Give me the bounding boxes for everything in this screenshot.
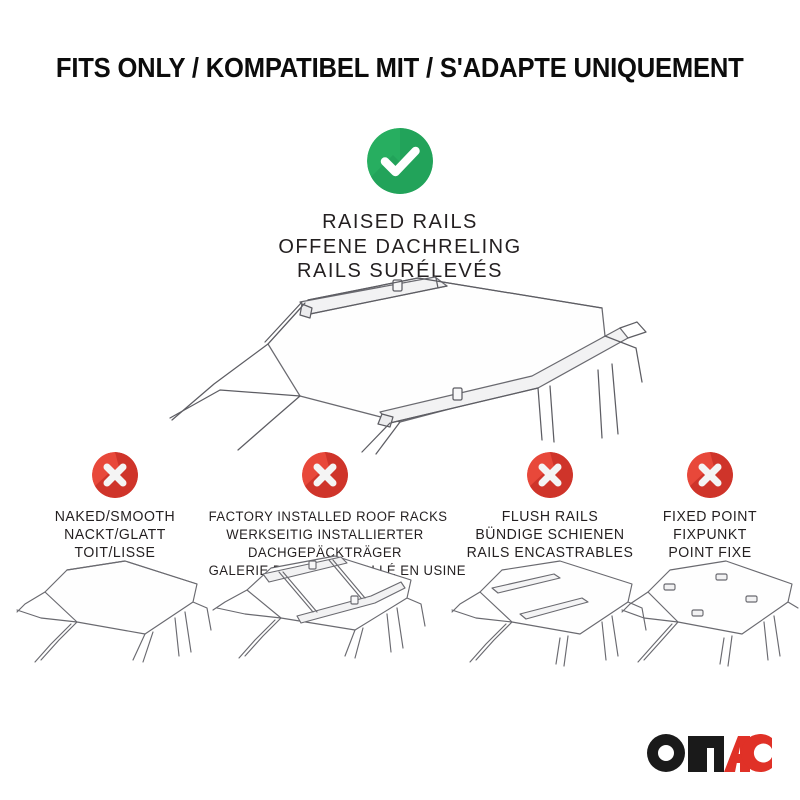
label-line-de: FIXPUNKT — [637, 526, 783, 544]
label-line-en: FACTORY INSTALLED ROOF RACKS — [209, 508, 442, 526]
incompatible-item-fixed-point: FIXED POINT FIXPUNKT POINT FIXE — [635, 452, 785, 562]
x-circle-icon — [687, 452, 733, 498]
incompatible-item-flush-rails: FLUSH RAILS BÜNDIGE SCHIENEN RAILS ENCAS… — [450, 452, 650, 562]
label-line-de: NACKT/GLATT — [18, 526, 212, 544]
incompatible-labels: FIXED POINT FIXPUNKT POINT FIXE — [635, 508, 785, 562]
incompatible-labels: FLUSH RAILS BÜNDIGE SCHIENEN RAILS ENCAS… — [450, 508, 650, 562]
car-roof-naked-smooth-illustration — [15, 556, 215, 691]
car-roof-fixed-point-illustration — [620, 556, 800, 691]
compatible-label-en: RAISED RAILS — [0, 210, 800, 235]
logo-letter-o — [647, 734, 685, 772]
page-title: FITS ONLY / KOMPATIBEL MIT / S'ADAPTE UN… — [0, 52, 800, 84]
incompatible-item-factory-racks: FACTORY INSTALLED ROOF RACKS WERKSEITIG … — [205, 452, 445, 580]
page-title-text: FITS ONLY / KOMPATIBEL MIT / S'ADAPTE UN… — [56, 52, 744, 84]
compatible-label-de: OFFENE DACHRELING — [0, 235, 800, 260]
label-line-en: NAKED/SMOOTH — [18, 508, 212, 526]
car-roof-factory-racks-illustration — [205, 552, 445, 692]
compatible-section: RAISED RAILS OFFENE DACHRELING RAILS SUR… — [0, 128, 800, 284]
incompatible-section: NAKED/SMOOTH NACKT/GLATT TOIT/LISSE — [0, 452, 800, 692]
x-circle-icon — [527, 452, 573, 498]
label-line-en: FLUSH RAILS — [453, 508, 647, 526]
label-line-de: BÜNDIGE SCHIENEN — [453, 526, 647, 544]
label-line-de-1: WERKSEITIG INSTALLIERTER — [209, 526, 442, 544]
incompatible-item-naked-smooth: NAKED/SMOOTH NACKT/GLATT TOIT/LISSE — [15, 452, 215, 562]
x-circle-icon — [302, 452, 348, 498]
omac-logo — [646, 732, 774, 774]
label-line-en: FIXED POINT — [637, 508, 783, 526]
x-circle-icon — [92, 452, 138, 498]
car-roof-raised-rails-illustration — [150, 272, 650, 457]
logo-letter-m — [688, 736, 724, 772]
check-circle-icon — [367, 128, 433, 194]
incompatible-labels: NAKED/SMOOTH NACKT/GLATT TOIT/LISSE — [15, 508, 215, 562]
